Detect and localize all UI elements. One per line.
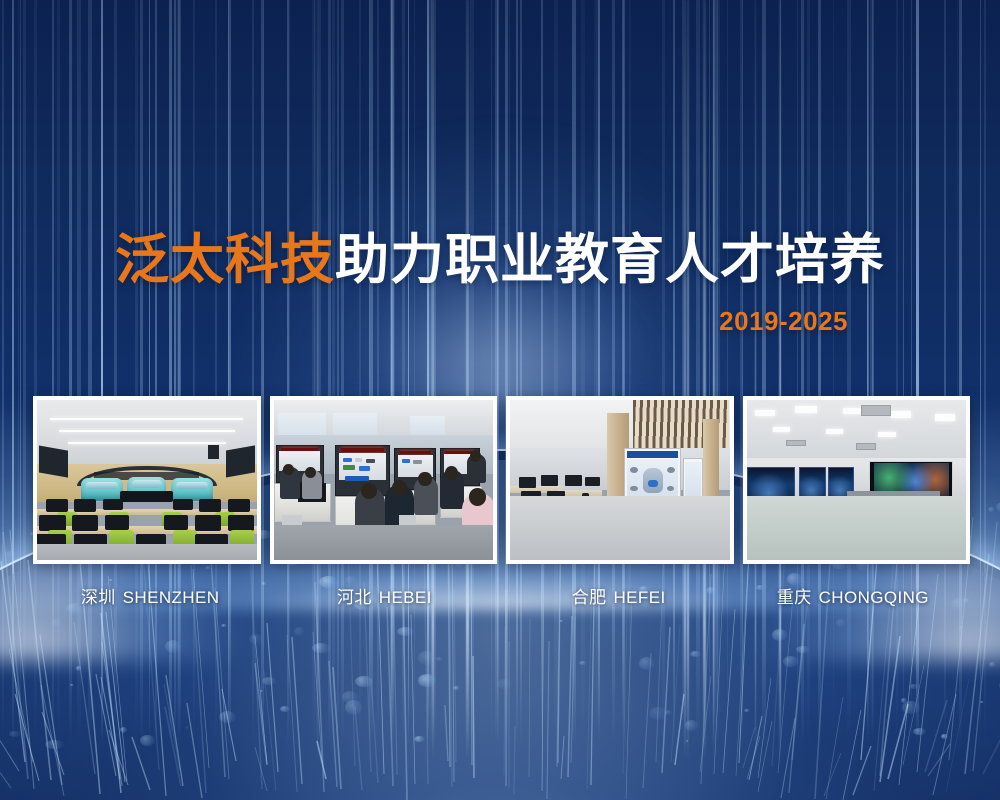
promo-banner: 泛太科技助力职业教育人才培养 2019-2025: [0, 0, 1000, 800]
caption-shenzhen: 深圳SHENZHEN: [33, 583, 267, 609]
caption-chongqing: 重庆CHONGQING: [736, 583, 970, 609]
headline-brand: 泛太科技: [115, 230, 335, 290]
headline-rest: 助力职业教育人才培养: [335, 230, 885, 290]
caption-hefei: 合肥HEFEI: [502, 583, 736, 609]
shenzhen-classroom-photo: [37, 400, 257, 560]
page-title: 泛太科技助力职业教育人才培养: [0, 232, 1000, 289]
hefei-lab-photo: [510, 400, 730, 560]
gallery-card[interactable]: [33, 396, 261, 564]
gallery-card[interactable]: [270, 396, 498, 564]
caption-hebei: 河北HEBEI: [267, 583, 501, 609]
gallery-captions: 深圳SHENZHEN 河北HEBEI 合肥HEFEI 重庆CHONGQING: [33, 583, 970, 609]
caption-hebei-en: HEBEI: [379, 588, 432, 607]
caption-shenzhen-cn: 深圳: [81, 588, 116, 607]
gallery-card[interactable]: [506, 396, 734, 564]
hebei-training-lab-photo: [274, 400, 494, 560]
year-range-label: 2019-2025: [719, 306, 848, 337]
gallery-card[interactable]: [743, 396, 971, 564]
caption-chongqing-cn: 重庆: [777, 588, 812, 607]
caption-chongqing-en: CHONGQING: [819, 588, 929, 607]
caption-hefei-cn: 合肥: [572, 588, 607, 607]
caption-shenzhen-en: SHENZHEN: [123, 588, 220, 607]
caption-hebei-cn: 河北: [337, 588, 372, 607]
gallery-strip: [33, 396, 970, 564]
caption-hefei-en: HEFEI: [614, 588, 666, 607]
chongqing-smart-lab-photo: [747, 400, 967, 560]
